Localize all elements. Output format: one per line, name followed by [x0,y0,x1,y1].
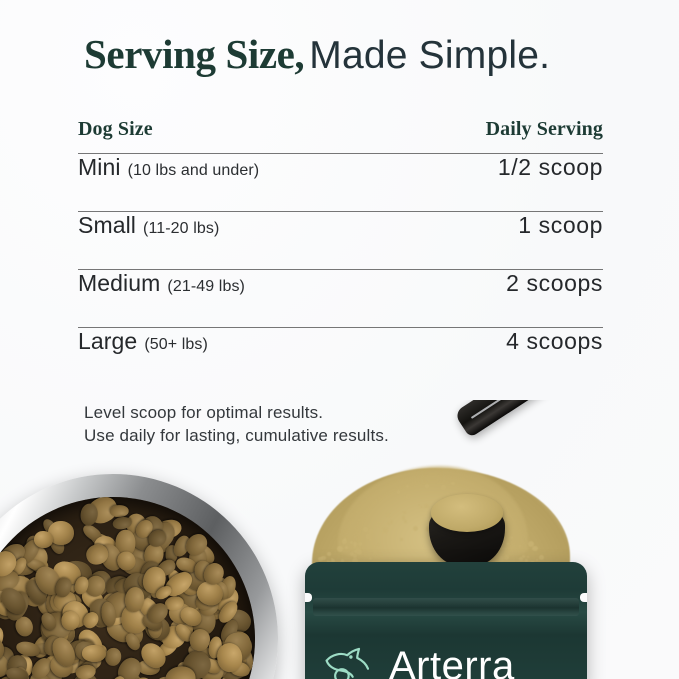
column-header-dog-size: Dog Size [78,118,153,141]
pouch-branding: Arterra [323,646,515,679]
table-row: Medium (21-49 lbs) 2 scoops [78,270,603,328]
dog-size-cell: Small (11-20 lbs) [78,212,219,239]
brand-name: Arterra [389,646,515,679]
table-row: Mini (10 lbs and under) 1/2 scoop [78,154,603,212]
product-pouch: Arterra [305,562,587,679]
dog-size-name: Medium [78,270,160,297]
pouch-tear-notch-right [580,593,587,602]
product-photo: Arterra [0,400,679,679]
serving-size-table: Dog Size Daily Serving Mini (10 lbs and … [78,118,603,386]
dog-size-name: Large [78,328,137,355]
scoop-handle-highlight [471,400,606,419]
daily-serving-value: 1/2 scoop [498,154,603,181]
dog-size-name: Mini [78,154,121,181]
pouch-seal [313,598,579,616]
black-measuring-scoop-handle [454,400,625,438]
daily-serving-value: 4 scoops [506,328,603,355]
page-title-emphasis: Serving Size, [84,31,304,77]
scoop-powder-fill [431,494,503,532]
dog-size-cell: Mini (10 lbs and under) [78,154,259,181]
table-row: Small (11-20 lbs) 1 scoop [78,212,603,270]
column-header-daily-serving: Daily Serving [486,118,603,141]
daily-serving-value: 2 scoops [506,270,603,297]
dog-size-cell: Medium (21-49 lbs) [78,270,245,297]
dog-bowl-with-kibble [0,474,278,679]
dog-logo-icon [323,646,377,679]
dog-size-name: Small [78,212,136,239]
table-header-row: Dog Size Daily Serving [78,118,603,154]
dog-size-weight-range: (11-20 lbs) [143,220,219,238]
daily-serving-value: 1 scoop [518,212,603,239]
dog-size-weight-range: (21-49 lbs) [167,278,245,296]
dog-size-weight-range: (50+ lbs) [144,336,208,354]
table-row: Large (50+ lbs) 4 scoops [78,328,603,386]
page-title-subtext: Made Simple. [309,34,550,77]
serving-size-infographic: Serving Size,Made Simple. Dog Size Daily… [0,0,679,679]
pouch-tear-notch-left [305,593,312,602]
dog-size-cell: Large (50+ lbs) [78,328,208,355]
dog-size-weight-range: (10 lbs and under) [128,162,260,180]
page-title: Serving Size,Made Simple. [84,30,550,78]
